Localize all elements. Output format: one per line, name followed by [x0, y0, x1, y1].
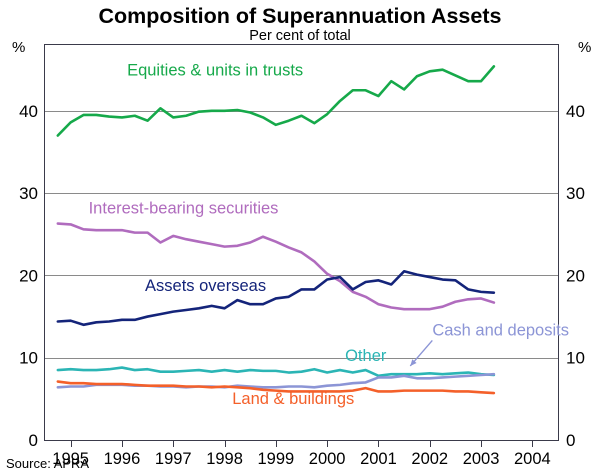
chart-container: Composition of Superannuation Assets Per… [0, 0, 600, 475]
x-tick-label-1997: 1997 [155, 450, 192, 468]
y-tick-label-right-0: 0 [566, 431, 575, 450]
superannuation-assets-line-chart: Composition of Superannuation Assets Per… [0, 0, 600, 475]
x-axis-tick-labels: 1995199619971998199920002001200220032004 [52, 450, 550, 468]
y-axis-unit-right: % [578, 39, 591, 56]
series-label-3: Other [345, 347, 387, 365]
series-label-0: Equities & units in trusts [127, 61, 303, 79]
y-tick-label-left-20: 20 [19, 266, 38, 285]
y-axis-tick-labels-left: 010203040 [19, 102, 38, 450]
y-tick-label-right-20: 20 [566, 266, 585, 285]
plot-frame [45, 45, 559, 441]
series-label-5: Land & buildings [232, 390, 354, 408]
y-tick-label-left-40: 40 [19, 102, 38, 121]
series-callouts-group [410, 340, 432, 366]
y-tick-label-left-30: 30 [19, 184, 38, 203]
x-tick-label-1999: 1999 [257, 450, 294, 468]
y-tick-label-right-40: 40 [566, 102, 585, 121]
series-line-1 [58, 224, 494, 310]
x-tick-label-2000: 2000 [309, 450, 346, 468]
x-tick-label-1996: 1996 [104, 450, 141, 468]
y-axis-tick-labels-right: 010203040 [566, 102, 585, 450]
y-tick-label-left-0: 0 [29, 431, 38, 450]
series-label-1: Interest-bearing securities [89, 200, 279, 218]
x-tick-label-2001: 2001 [360, 450, 397, 468]
y-tick-label-right-30: 30 [566, 184, 585, 203]
series-line-2 [58, 271, 494, 324]
source-note: Source: APRA [6, 456, 89, 471]
y-tick-label-left-10: 10 [19, 349, 38, 368]
x-tick-label-1998: 1998 [206, 450, 243, 468]
series-label-2: Assets overseas [145, 277, 266, 295]
x-tick-label-2002: 2002 [411, 450, 448, 468]
x-tick-label-2004: 2004 [514, 450, 551, 468]
y-axis-unit-left: % [12, 39, 25, 56]
series-label-4: Cash and deposits [432, 321, 569, 339]
page-title: Composition of Superannuation Assets [99, 4, 502, 28]
y-tick-label-right-10: 10 [566, 349, 585, 368]
series-line-3 [58, 368, 494, 376]
chart-subtitle: Per cent of total [249, 28, 351, 44]
x-tick-label-2003: 2003 [463, 450, 500, 468]
